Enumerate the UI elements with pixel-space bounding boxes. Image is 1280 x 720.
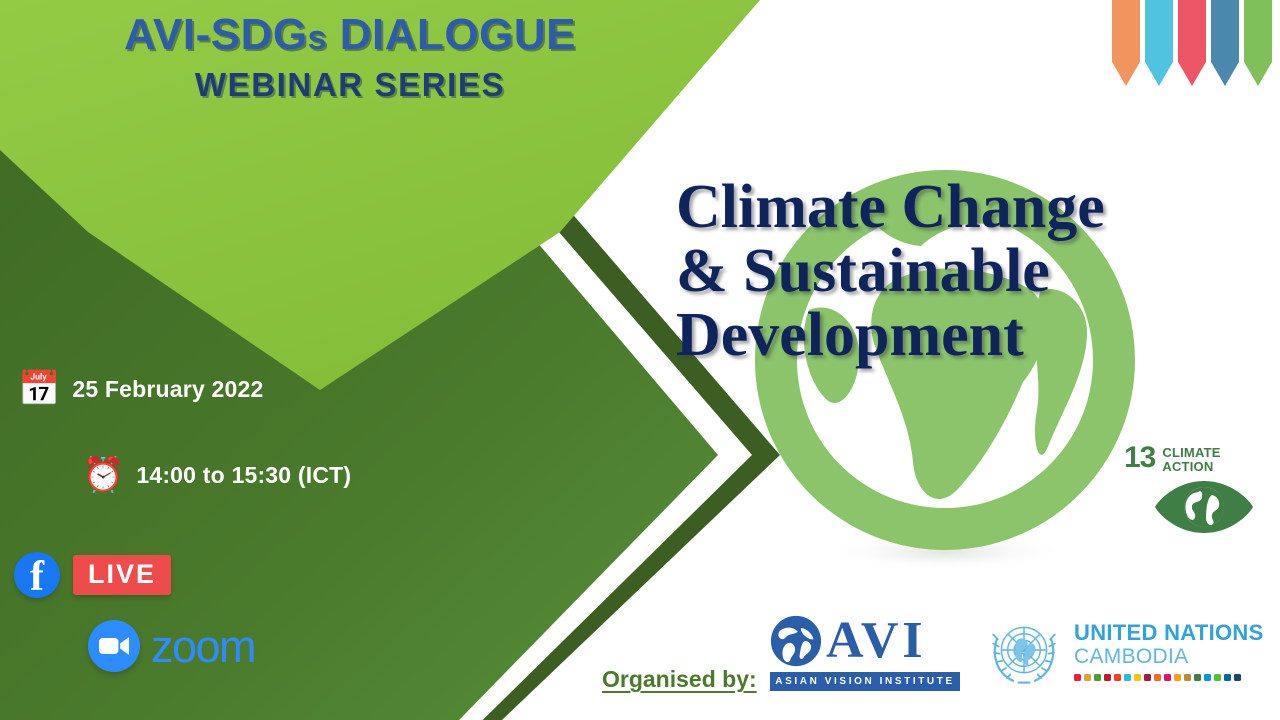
un-title-line2: CAMBODIA bbox=[1074, 645, 1264, 668]
webinar-series-title-line1: AVI-SDGs DIALOGUE bbox=[0, 12, 700, 58]
sdg-color-dot bbox=[1104, 674, 1111, 681]
sdg-color-dot bbox=[1214, 674, 1221, 681]
sdg-color-dot bbox=[1174, 674, 1181, 681]
sdg-13-header: 13 CLIMATE ACTION bbox=[1124, 444, 1274, 473]
event-time: 14:00 to 15:30 (ICT) bbox=[136, 462, 351, 489]
un-cambodia-logo: UNITED NATIONS CAMBODIA bbox=[986, 612, 1264, 688]
sdg-13-number: 13 bbox=[1124, 444, 1155, 472]
title-line-3: Development bbox=[676, 304, 1276, 368]
un-title-line1: UNITED NATIONS bbox=[1074, 621, 1264, 644]
sdg-13-label-line1: CLIMATE bbox=[1162, 446, 1220, 460]
alarm-clock-icon: ⏰ bbox=[82, 458, 124, 492]
sdg-color-dots bbox=[1074, 674, 1264, 681]
sdg-color-dot bbox=[1134, 674, 1141, 681]
live-badge: LIVE bbox=[73, 555, 171, 595]
un-text-block: UNITED NATIONS CAMBODIA bbox=[1074, 619, 1264, 680]
facebook-icon[interactable]: f bbox=[14, 552, 60, 598]
sdg-color-dot bbox=[1154, 674, 1161, 681]
zoom-row[interactable]: zoom bbox=[88, 620, 255, 672]
sdg-color-dot bbox=[1234, 674, 1241, 681]
calendar-icon: 📅 bbox=[18, 372, 60, 406]
un-emblem-icon bbox=[986, 612, 1062, 688]
sdg-color-dot bbox=[1114, 674, 1121, 681]
sdg-color-dot bbox=[1164, 674, 1171, 681]
webinar-poster: AVI-SDGs DIALOGUE WEBINAR SERIES Climate… bbox=[0, 0, 1280, 720]
zoom-wordmark: zoom bbox=[151, 624, 255, 669]
avi-tagline: ASIAN VISION INSTITUTE bbox=[770, 672, 960, 691]
event-date-row: 📅 25 February 2022 bbox=[18, 372, 264, 406]
sdg-color-dot bbox=[1204, 674, 1211, 681]
pennant-ribbons bbox=[1112, 0, 1272, 86]
facebook-live-row[interactable]: f LIVE bbox=[14, 552, 171, 598]
sdg-color-dot bbox=[1094, 674, 1101, 681]
event-date: 25 February 2022 bbox=[72, 376, 263, 403]
avi-letters: AVI bbox=[826, 615, 927, 667]
webinar-series-title-line2: WEBINAR SERIES bbox=[0, 66, 700, 104]
title-line-2: & Sustainable bbox=[676, 240, 1276, 304]
sdg-13-badge: 13 CLIMATE ACTION bbox=[1124, 444, 1274, 540]
sdg-color-dot bbox=[1144, 674, 1151, 681]
sdg-color-dot bbox=[1194, 674, 1201, 681]
sdg-color-dot bbox=[1124, 674, 1131, 681]
event-time-row: ⏰ 14:00 to 15:30 (ICT) bbox=[82, 458, 351, 492]
pennant-green bbox=[1244, 0, 1272, 86]
video-camera-icon[interactable] bbox=[88, 620, 140, 672]
organised-by-label: Organised by: bbox=[602, 666, 757, 693]
sdg-color-dot bbox=[1084, 674, 1091, 681]
pennant-blue bbox=[1211, 0, 1239, 86]
sdg-color-dot bbox=[1224, 674, 1231, 681]
pennant-orange bbox=[1112, 0, 1140, 86]
avi-logo-top: AVI bbox=[770, 612, 960, 670]
sdg-13-label: CLIMATE ACTION bbox=[1162, 444, 1220, 473]
avi-logo: AVI ASIAN VISION INSTITUTE bbox=[770, 612, 960, 691]
pennant-red bbox=[1178, 0, 1206, 86]
avi-globe-icon bbox=[770, 615, 822, 667]
sdg-color-dot bbox=[1184, 674, 1191, 681]
sdg-color-dot bbox=[1074, 674, 1081, 681]
title-line-1: Climate Change bbox=[676, 176, 1276, 240]
page-title: Climate Change & Sustainable Development bbox=[676, 176, 1276, 368]
sdg-13-eye-globe-icon bbox=[1154, 479, 1274, 540]
pennant-cyan bbox=[1145, 0, 1173, 86]
sdg-13-label-line2: ACTION bbox=[1162, 460, 1220, 474]
facebook-f-glyph: f bbox=[14, 554, 60, 600]
header-block: AVI-SDGs DIALOGUE WEBINAR SERIES bbox=[0, 12, 700, 104]
